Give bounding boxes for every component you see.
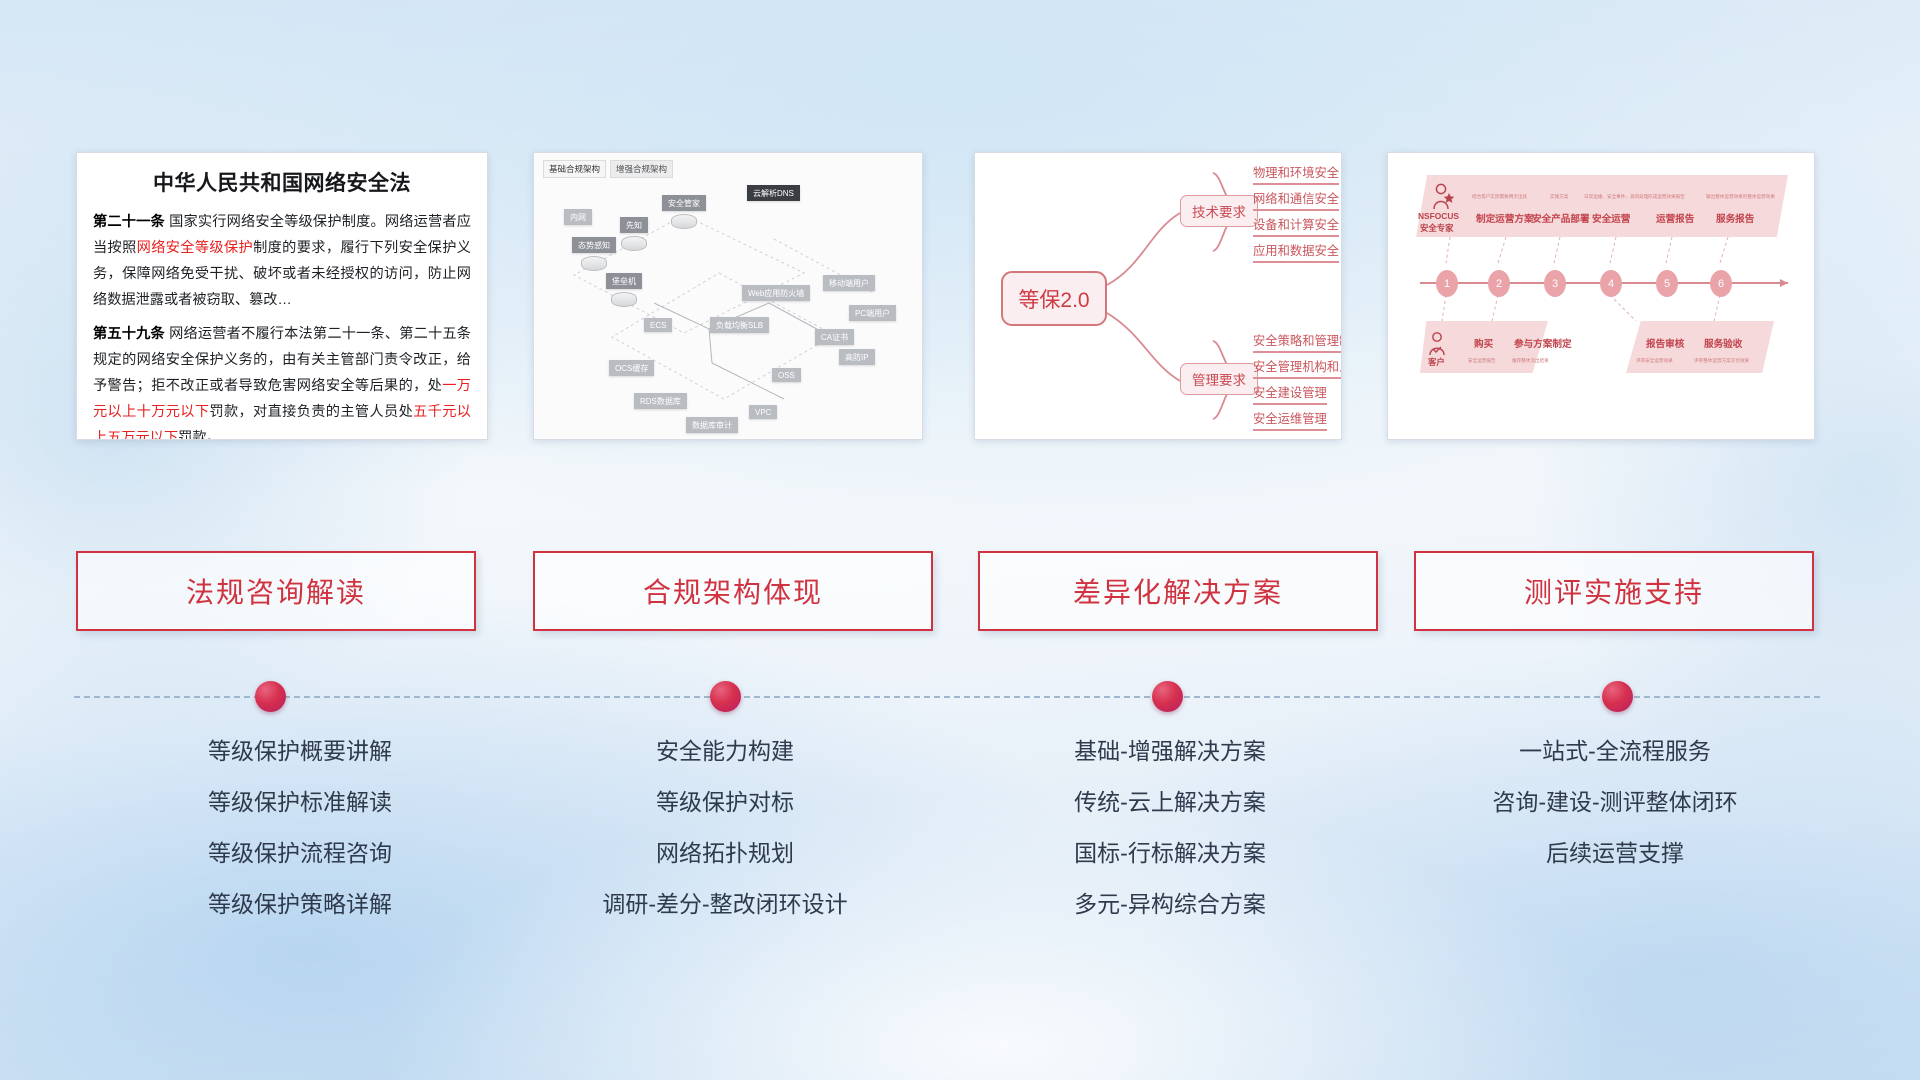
arch-node-anti-ddos-ip: 高防IP [839, 349, 875, 365]
mindmap-leaf-app-data: 应用和数据安全 [1253, 241, 1339, 263]
arch-node-situation-awareness: 态势感知 [572, 237, 616, 271]
mindmap-leaf-network-comm: 网络和通信安全 [1253, 189, 1339, 211]
arch-node-ca-certificate: CA证书 [815, 329, 854, 345]
list-item: 传统-云上解决方案 [920, 791, 1420, 814]
architecture-connectors [534, 153, 923, 440]
headline-box-solution[interactable]: 差异化解决方案 [978, 551, 1378, 631]
mindmap-root: 等保2.0 [1001, 271, 1107, 326]
headline-label-0: 法规咨询解读 [186, 571, 366, 611]
process-step-3: 3 [1544, 270, 1566, 297]
law-content: 中华人民共和国网络安全法 第二十一条 国家实行网络安全等级保护制度。网络运营者应… [77, 153, 487, 440]
process-band-top [1416, 175, 1788, 237]
headline-box-regulation[interactable]: 法规咨询解读 [76, 551, 476, 631]
article-59-text-b: 罚款，对直接负责的主管人员处 [209, 404, 413, 420]
process-title-report-review: 报告审核 [1646, 336, 1684, 350]
arch-node-oss: OSS [772, 368, 801, 382]
headline-box-architecture[interactable]: 合规架构体现 [533, 551, 933, 631]
arch-node-mobile-user: 移动端用户 [823, 275, 875, 291]
architecture-diagram: 基础合规架构 增强合规架构 云解析DNS 内网 安全管家 先知 [534, 153, 922, 439]
bullet-column-architecture: 安全能力构建 等级保护对标 网络拓扑规划 调研-差分-整改闭环设计 [475, 740, 975, 944]
process-step-5: 5 [1656, 270, 1678, 297]
arch-node-intranet: 内网 [564, 209, 592, 225]
process-title-svc-report: 服务报告 [1716, 211, 1754, 225]
arch-node-database-audit: 数据库审计 [686, 417, 738, 433]
arch-node-slb: 负载均衡SLB [710, 317, 769, 333]
arch-node-bastion-host: 堡垒机 [606, 273, 642, 307]
process-step-2: 2 [1488, 270, 1510, 297]
arch-node-waf: Web应用防火墙 [742, 285, 810, 301]
process-title-op-report: 运营报告 [1656, 211, 1694, 225]
arch-node-xianzhi: 先知 [620, 217, 648, 251]
arch-node-pc-user: PC端用户 [849, 305, 896, 321]
process-step-1: 1 [1436, 270, 1458, 297]
law-article-21: 第二十一条 国家实行网络安全等级保护制度。网络运营者应当按照网络安全等级保护制度… [93, 210, 471, 313]
process-sub-purchase: 安全运营报告 [1468, 358, 1496, 364]
process-sub-operate: 日常运维、安全事件、高同处理 [1584, 194, 1648, 200]
card-assessment-process[interactable]: NSFOCUS 安全专家 客户 结合客户实际需要明示出具 制定运营方案 实施方案… [1387, 152, 1815, 440]
process-title-deploy: 安全产品部署 [1532, 211, 1590, 225]
process-title-purchase: 购买 [1474, 336, 1493, 350]
process-diagram: NSFOCUS 安全专家 客户 结合客户实际需要明示出具 制定运营方案 实施方案… [1388, 153, 1814, 439]
mindmap-diagram: 等保2.0 技术要求 物理和环境安全 网络和通信安全 设备和计算安全 应用和数据… [975, 153, 1341, 439]
timeline-dot-4[interactable] [1602, 681, 1633, 712]
bullet-column-assessment: 一站式-全流程服务 咨询-建设-测评整体闭环 后续运营支撑 [1365, 740, 1865, 893]
timeline-dot-1[interactable] [255, 681, 286, 712]
process-sub-acceptance: 评审整体运营方案交付效果 [1694, 358, 1749, 364]
arch-node-cloud-dns: 云解析DNS [747, 185, 800, 201]
law-title: 中华人民共和国网络安全法 [93, 167, 471, 197]
process-title-acceptance: 服务验收 [1704, 336, 1742, 350]
timeline-dot-3[interactable] [1152, 681, 1183, 712]
process-step-6: 6 [1710, 270, 1732, 297]
timeline-track [74, 696, 1820, 698]
arch-node-security-steward: 安全管家 [662, 195, 706, 229]
list-item: 等级保护对标 [475, 791, 975, 814]
expert-role-label: 安全专家 [1420, 223, 1454, 234]
mindmap-leaf-construction: 安全建设管理 [1253, 383, 1327, 405]
list-item: 安全能力构建 [475, 740, 975, 763]
card-cybersecurity-law[interactable]: 中华人民共和国网络安全法 第二十一条 国家实行网络安全等级保护制度。网络运营者应… [76, 152, 488, 440]
card-mindmap-dengbao[interactable]: 等保2.0 技术要求 物理和环境安全 网络和通信安全 设备和计算安全 应用和数据… [974, 152, 1342, 440]
mindmap-leaf-org-personnel: 安全管理机构和人员 [1253, 357, 1342, 379]
process-sub-op-report: 形成运营效果报告 [1648, 194, 1685, 200]
mindmap-branch-management: 管理要求 [1180, 363, 1258, 395]
list-item: 网络拓扑规划 [475, 842, 975, 865]
mindmap-leaf-device-compute: 设备和计算安全 [1253, 215, 1339, 237]
arch-node-ocs-cache: OCS缓存 [609, 360, 654, 376]
headline-label-1: 合规架构体现 [643, 571, 823, 611]
timeline-dot-2[interactable] [710, 681, 741, 712]
mindmap-branch-technical: 技术要求 [1180, 195, 1258, 227]
article-21-highlight: 网络安全等级保护 [137, 240, 253, 256]
process-step-4: 4 [1600, 270, 1622, 297]
process-title-join-plan: 参与方案制定 [1514, 336, 1572, 350]
process-title-operate: 安全运营 [1592, 211, 1630, 225]
list-item: 多元-异构综合方案 [920, 893, 1420, 916]
list-item: 咨询-建设-测评整体闭环 [1365, 791, 1865, 814]
process-sub-svc-report: 输出整体运营效果的整体运营效果 [1706, 194, 1775, 200]
process-sub-report-review: 评审安全运营效果 [1636, 358, 1673, 364]
headline-label-2: 差异化解决方案 [1073, 571, 1283, 611]
article-59-text-c: 罚款。 [178, 430, 221, 440]
arch-node-vpc: VPC [749, 405, 777, 419]
arch-node-ecs: ECS [644, 318, 672, 332]
list-item: 后续运营支撑 [1365, 842, 1865, 865]
expert-brand-label: NSFOCUS [1418, 211, 1459, 222]
mindmap-leaf-policy-system: 安全策略和管理制度 [1253, 331, 1342, 353]
headline-box-assessment[interactable]: 测评实施支持 [1414, 551, 1814, 631]
bullet-column-solution: 基础-增强解决方案 传统-云上解决方案 国标-行标解决方案 多元-异构综合方案 [920, 740, 1420, 944]
card-compliance-architecture[interactable]: 基础合规架构 增强合规架构 云解析DNS 内网 安全管家 先知 [533, 152, 923, 440]
expert-person-icon [1432, 183, 1454, 211]
process-sub-join-plan: 推荐整体流出结果 [1512, 358, 1549, 364]
article-21-label: 第二十一条 [93, 214, 165, 230]
article-59-label: 第五十九条 [93, 326, 165, 342]
list-item: 调研-差分-整改闭环设计 [475, 893, 975, 916]
customer-role-label: 客户 [1428, 357, 1445, 368]
headline-label-3: 测评实施支持 [1524, 571, 1704, 611]
list-item: 基础-增强解决方案 [920, 740, 1420, 763]
list-item: 一站式-全流程服务 [1365, 740, 1865, 763]
process-sub-plan: 结合客户实际需要明示出具 [1472, 194, 1527, 200]
arch-node-rds-database: RDS数据库 [634, 393, 687, 409]
image-card-row: 中华人民共和国网络安全法 第二十一条 国家实行网络安全等级保护制度。网络运营者应… [0, 0, 1920, 320]
process-sub-deploy: 实施方案 [1550, 194, 1568, 200]
mindmap-leaf-operations: 安全运维管理 [1253, 409, 1327, 431]
process-title-plan: 制定运营方案 [1476, 211, 1534, 225]
mindmap-leaf-physical-env: 物理和环境安全 [1253, 163, 1339, 185]
law-article-59: 第五十九条 网络运营者不履行本法第二十一条、第二十五条规定的网络安全保护义务的，… [93, 322, 471, 440]
list-item: 国标-行标解决方案 [920, 842, 1420, 865]
